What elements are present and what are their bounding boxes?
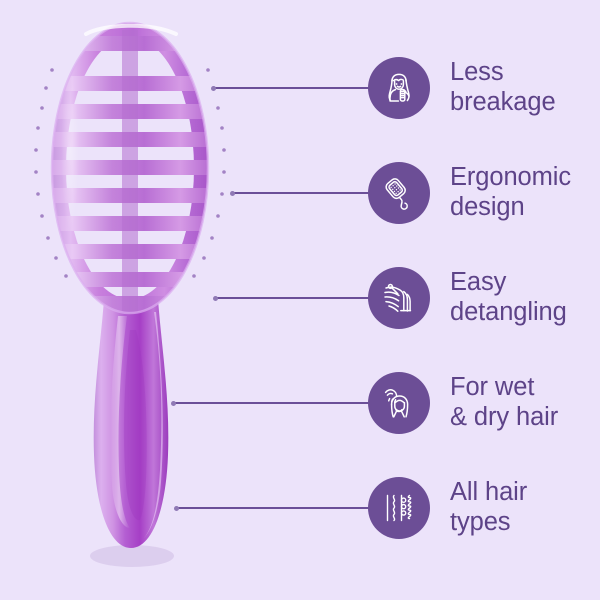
- feature-label-less-breakage: Less breakage: [450, 58, 556, 117]
- feature-label-all-hair-types: All hair types: [450, 478, 527, 537]
- connector-line-1: [213, 87, 378, 89]
- head-left-gloss: [61, 70, 79, 230]
- hand-detangling-hair-icon: [368, 267, 430, 329]
- showerhead-woman-icon: [368, 372, 430, 434]
- feature-label-for-wet-and-dry-hair: For wet & dry hair: [450, 373, 558, 432]
- feature-row-easy-detangling[interactable]: Easy detangling: [368, 254, 567, 342]
- product-image-hair-brush: [0, 0, 260, 600]
- connector-line-5: [176, 507, 378, 509]
- connector-line-2: [232, 192, 378, 194]
- connector-line-4: [173, 402, 378, 404]
- feature-row-all-hair-types[interactable]: All hair types: [368, 464, 527, 552]
- woman-brushing-hair-icon: [368, 57, 430, 119]
- hair-brush-illustration: [0, 0, 260, 600]
- feature-label-ergonomic-design: Ergonomic design: [450, 163, 571, 222]
- hair-texture-types-icon: [368, 477, 430, 539]
- connector-line-3: [215, 297, 378, 299]
- feature-row-less-breakage[interactable]: Less breakage: [368, 44, 556, 132]
- brush-shadow: [90, 545, 174, 567]
- paddle-brush-icon: [368, 162, 430, 224]
- feature-label-easy-detangling: Easy detangling: [450, 268, 567, 327]
- feature-row-ergonomic-design[interactable]: Ergonomic design: [368, 149, 571, 237]
- feature-row-for-wet-and-dry-hair[interactable]: For wet & dry hair: [368, 359, 558, 447]
- product-feature-infographic: Less breakage Ergonomic design: [0, 0, 600, 600]
